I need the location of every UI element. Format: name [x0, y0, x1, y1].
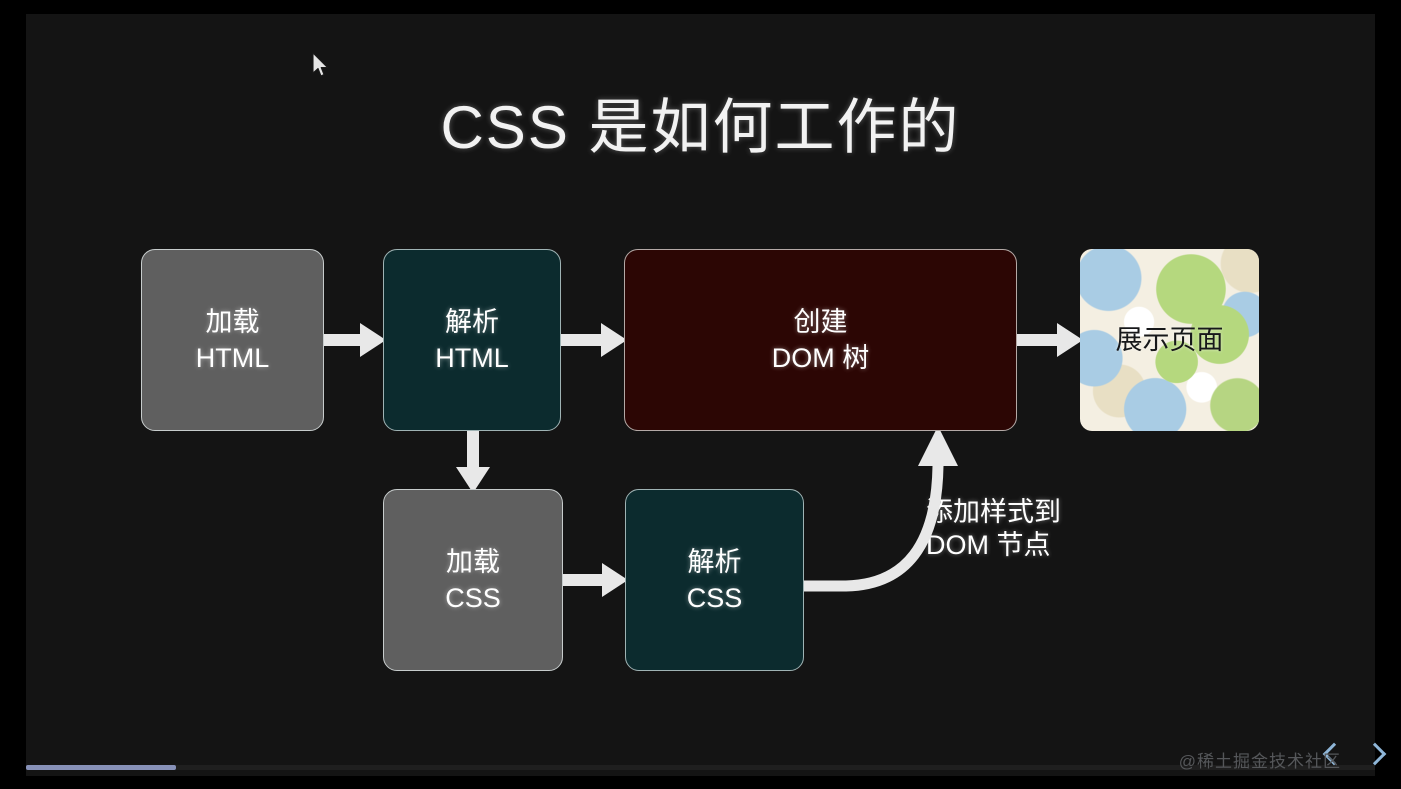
- node-show-page-label: 展示页面: [1080, 249, 1259, 431]
- chevron-right-icon[interactable]: [1364, 740, 1390, 770]
- progress-bar-fill: [26, 765, 176, 770]
- node-load-css[interactable]: 加载 CSS: [383, 489, 563, 671]
- node-load-css-line1: 加载: [446, 544, 500, 580]
- arrow-parse-html-to-load-css: [456, 431, 490, 493]
- node-create-dom-line1: 创建: [794, 304, 848, 340]
- node-create-dom-line2: DOM 树: [772, 340, 870, 376]
- arrow-load-css-to-parse-css: [563, 563, 628, 597]
- arrow-shaft: [467, 431, 479, 469]
- video-player-frame: CSS 是如何工作的 加载 HTML 解析 HTML: [0, 0, 1401, 789]
- arrow-create-dom-to-show-page: [1017, 323, 1083, 357]
- arrow-parse-html-to-create-dom: [561, 323, 627, 357]
- node-parse-css[interactable]: 解析 CSS: [625, 489, 804, 671]
- progress-bar-track[interactable]: [26, 765, 1375, 770]
- screen: CSS 是如何工作的 加载 HTML 解析 HTML: [0, 0, 1401, 789]
- node-parse-css-line2: CSS: [687, 580, 743, 616]
- slide-canvas: CSS 是如何工作的 加载 HTML 解析 HTML: [26, 14, 1375, 776]
- node-load-css-line2: CSS: [445, 580, 501, 616]
- arrow-load-html-to-parse-html: [324, 323, 386, 357]
- node-load-html[interactable]: 加载 HTML: [141, 249, 324, 431]
- arrow-parse-css-to-create-dom-curved: [786, 404, 976, 599]
- watermark: @稀土掘金技术社区: [1179, 747, 1341, 772]
- node-load-html-line1: 加载: [206, 304, 260, 340]
- flow-diagram: 加载 HTML 解析 HTML: [26, 14, 1375, 776]
- node-load-html-line2: HTML: [196, 340, 270, 376]
- node-parse-html-line2: HTML: [435, 340, 509, 376]
- curved-arrow-head-icon: [918, 426, 958, 466]
- node-parse-css-line1: 解析: [688, 544, 742, 580]
- node-show-page[interactable]: 展示页面: [1080, 249, 1259, 431]
- arrow-shaft: [1017, 334, 1059, 346]
- mouse-cursor-icon: [312, 52, 330, 78]
- node-parse-html-line1: 解析: [445, 304, 499, 340]
- arrow-shaft: [563, 574, 604, 586]
- node-create-dom-tree[interactable]: 创建 DOM 树: [624, 249, 1017, 431]
- arrow-shaft: [561, 334, 603, 346]
- node-parse-html[interactable]: 解析 HTML: [383, 249, 561, 431]
- curved-arrow-shaft: [792, 466, 938, 586]
- arrow-shaft: [324, 334, 362, 346]
